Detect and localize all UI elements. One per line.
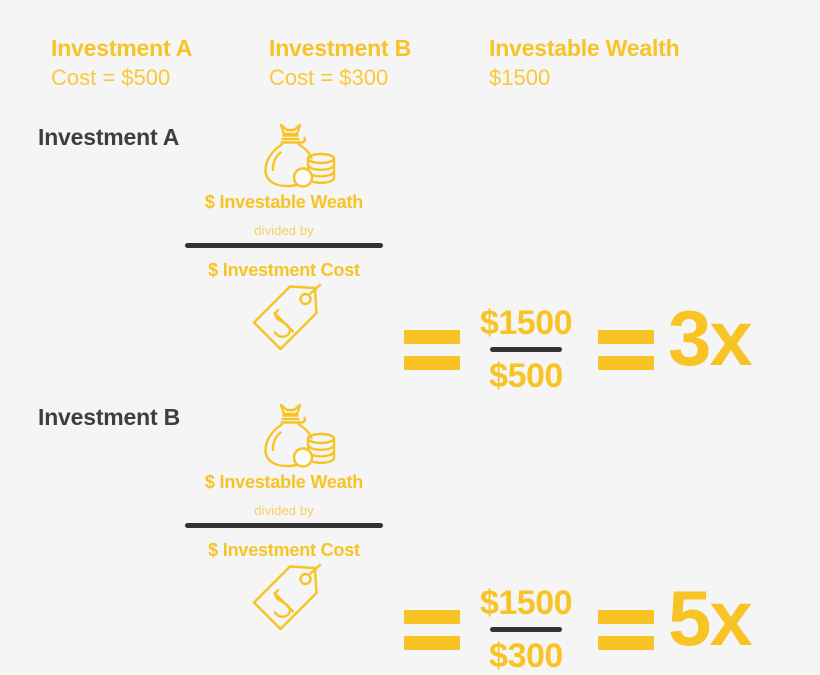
investment-a-result: 3x bbox=[668, 295, 751, 381]
price-tag-icon bbox=[248, 562, 328, 640]
investment-b-divided-by-label: divided by bbox=[150, 503, 418, 518]
investment-a-equals-sign-1 bbox=[404, 330, 460, 370]
equals-bar-bottom bbox=[598, 636, 654, 650]
equals-bar-top bbox=[598, 610, 654, 624]
header-subtitle-investment-b: Cost = $300 bbox=[269, 63, 411, 93]
investment-b-block: Investment B $ Investable Weath divided bbox=[0, 390, 820, 640]
investment-b-equals-sign-1 bbox=[404, 610, 460, 650]
investment-a-numeric-numerator: $1500 bbox=[467, 304, 585, 342]
equals-bar-top bbox=[404, 330, 460, 344]
investment-b-formula-numerator: $ Investable Weath bbox=[150, 472, 418, 493]
header-subtitle-investable-wealth: $1500 bbox=[489, 63, 679, 93]
investment-b-word-formula: $ Investable Weath divided by $ Investme… bbox=[150, 472, 418, 561]
investment-a-formula-denominator: $ Investment Cost bbox=[150, 260, 418, 281]
header-summary-row: Investment A Cost = $500 Investment B Co… bbox=[0, 34, 820, 100]
investment-b-formula-divider bbox=[185, 523, 383, 528]
header-column-investment-b: Investment B Cost = $300 bbox=[269, 34, 411, 93]
header-column-investment-a: Investment A Cost = $500 bbox=[51, 34, 192, 93]
infographic-canvas: Investment A Cost = $500 Investment B Co… bbox=[0, 0, 820, 660]
header-title-investment-a: Investment A bbox=[51, 34, 192, 62]
equals-bar-bottom bbox=[404, 356, 460, 370]
investment-a-numeric-formula: $1500 $500 bbox=[467, 304, 585, 395]
investment-a-formula-numerator: $ Investable Weath bbox=[150, 192, 418, 213]
investment-a-formula-divider bbox=[185, 243, 383, 248]
money-bag-icon bbox=[255, 400, 340, 472]
investment-a-divided-by-label: divided by bbox=[150, 223, 418, 238]
header-column-investable-wealth: Investable Wealth $1500 bbox=[489, 34, 679, 93]
equals-bar-bottom bbox=[404, 636, 460, 650]
equals-bar-top bbox=[598, 330, 654, 344]
investment-a-equals-sign-2 bbox=[598, 330, 654, 370]
header-title-investment-b: Investment B bbox=[269, 34, 411, 62]
investment-a-block: Investment A $ Investable Weath divided bbox=[0, 110, 820, 360]
investment-b-result: 5x bbox=[668, 575, 751, 661]
header-title-investable-wealth: Investable Wealth bbox=[489, 34, 679, 62]
header-subtitle-investment-a: Cost = $500 bbox=[51, 63, 192, 93]
equals-bar-bottom bbox=[598, 356, 654, 370]
investment-b-equals-sign-2 bbox=[598, 610, 654, 650]
investment-b-block-label: Investment B bbox=[38, 404, 180, 431]
investment-a-word-formula: $ Investable Weath divided by $ Investme… bbox=[150, 192, 418, 281]
investment-b-numeric-divider bbox=[490, 627, 562, 632]
investment-b-numeric-denominator: $300 bbox=[467, 637, 585, 675]
investment-b-numeric-formula: $1500 $300 bbox=[467, 584, 585, 675]
investment-a-block-label: Investment A bbox=[38, 124, 179, 151]
investment-b-numeric-numerator: $1500 bbox=[467, 584, 585, 622]
price-tag-icon bbox=[248, 282, 328, 360]
money-bag-icon bbox=[255, 120, 340, 192]
equals-bar-top bbox=[404, 610, 460, 624]
investment-a-numeric-divider bbox=[490, 347, 562, 352]
investment-b-formula-denominator: $ Investment Cost bbox=[150, 540, 418, 561]
